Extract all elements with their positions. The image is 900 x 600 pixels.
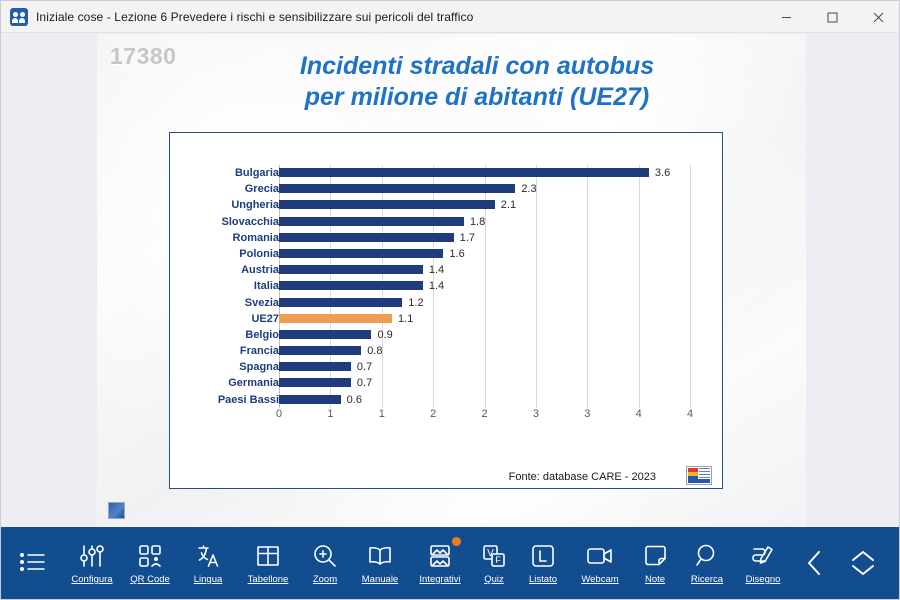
chart-bar-value: 3.6 [649,165,670,181]
toolbar-item-configura[interactable]: Configura [63,527,121,599]
toolbar-item-tabellone[interactable]: Tabellone [237,527,299,599]
chart-x-tick-label: 0 [276,408,282,420]
chart-x-tick-label: 2 [481,408,487,420]
chart-category-label: Francia [176,343,279,359]
chart-bar-value: 0.7 [351,359,372,375]
chart-category-label: Ungheria [176,197,279,213]
toolbar-item-label: Ricerca [691,574,723,585]
chart-bar-value: 2.1 [495,197,516,213]
toolbar-item-note[interactable]: Note [631,527,679,599]
chart-x-tick-label: 3 [533,408,539,420]
chart-bar-row: 2.3 [279,181,690,197]
chart-x-tick-label: 3 [584,408,590,420]
images-icon [427,541,453,571]
chart-bar-row: 1.4 [279,262,690,278]
close-icon[interactable] [855,1,900,33]
chart-bar [279,330,371,339]
chart-gridline [690,165,691,408]
chart-bar [279,395,341,404]
toolbar-nav-next[interactable] [887,527,900,599]
pen-draw-icon [749,541,777,571]
chart-bar-row: 1.7 [279,230,690,246]
chart-category-label: Spagna [176,359,279,375]
chart-category-label: Polonia [176,246,279,262]
notification-badge [452,537,461,546]
toolbar-item-listato[interactable]: Listato [517,527,569,599]
toolbar-nav-prev[interactable] [791,527,839,599]
table-icon [255,541,281,571]
chart-bar-row: 0.9 [279,327,690,343]
chart-bar-value: 0.7 [351,375,372,391]
toolbar-item-manuale[interactable]: Manuale [351,527,409,599]
chart-bar-value: 1.1 [392,311,413,327]
chart-category-label: Italia [176,278,279,294]
menu-list-icon [18,547,46,577]
chart-bar-row: 0.6 [279,392,690,408]
chart-bar-value: 0.6 [341,392,362,408]
chart-bar-row: 3.6 [279,165,690,181]
chart-category-label: Belgio [176,327,279,343]
chart-category-label: Svezia [176,295,279,311]
toolbar-item-label: Disegno [746,574,781,585]
chart-bar-value: 2.3 [515,181,536,197]
chart-bar [279,217,464,226]
window-title: Iniziale cose - Lezione 6 Prevedere i ri… [36,10,473,24]
slide-code: 17380 [110,43,176,70]
chart-bar-value: 0.8 [361,343,382,359]
toolbar-item-qr-code[interactable]: QR Code [121,527,179,599]
chart-x-axis: 011223344 [279,408,690,426]
slide-title-line2: per milione di abitanti (UE27) [187,82,767,113]
zoom-in-icon [312,541,338,571]
sliders-icon [79,541,105,571]
page-title: Incidenti stradali con autobus per milio… [187,51,767,113]
chart-bar [279,168,649,177]
people-icon [10,8,28,26]
chart-category-label: Romania [176,230,279,246]
chart-category-label: Slovacchia [176,214,279,230]
chart-category-label: Austria [176,262,279,278]
chart-bar-row: 1.2 [279,295,690,311]
toolbar-item-zoom[interactable]: Zoom [299,527,351,599]
chart-x-tick-label: 4 [636,408,642,420]
workspace: 17380 Incidenti stradali con autobus per… [1,33,900,529]
toolbar-item-integrativi[interactable]: Integrativi [409,527,471,599]
chart-bar [279,346,361,355]
bottom-toolbar: ConfiguraQR CodeLinguaTabelloneZoomManua… [1,527,900,599]
book-icon [367,541,393,571]
chart-bar-row: 1.4 [279,278,690,294]
toolbar-item-label: Quiz [484,574,504,585]
toolbar-item-lingua[interactable]: Lingua [179,527,237,599]
chart-category-label: UE27 [176,311,279,327]
toolbar-item-label: Lingua [194,574,223,585]
chart-category-label: Grecia [176,181,279,197]
chart-x-tick-label: 2 [430,408,436,420]
chart-inner: BulgariaGreciaUngheriaSlovacchiaRomaniaP… [170,133,722,488]
toolbar-item-menu[interactable] [1,527,63,599]
slide-canvas[interactable]: 17380 Incidenti stradali con autobus per… [97,34,806,529]
chart-bar-value: 1.4 [423,278,444,294]
toolbar-item-label: Tabellone [248,574,289,585]
etsc-logo-icon [686,466,712,485]
chart-bar-value: 1.7 [454,230,475,246]
toolbar-item-label: Listato [529,574,557,585]
chart-bar-row: 0.7 [279,359,690,375]
toolbar-item-label: Configura [71,574,112,585]
note-icon [642,541,668,571]
quiz-cards-icon: VF [481,541,507,571]
chart-bar [279,184,515,193]
chart-bar-value: 1.2 [402,295,423,311]
toolbar-item-label: Note [645,574,665,585]
window-controls [763,1,900,33]
chart-bar [279,233,454,242]
chart-bar-row: 2.1 [279,197,690,213]
toolbar-item-label: Webcam [581,574,618,585]
slide-title-line1: Incidenti stradali con autobus [187,51,767,82]
chart-bar [279,362,351,371]
chart-bar-value: 1.6 [443,246,464,262]
chart-bar-row: 1.8 [279,214,690,230]
minimize-icon[interactable] [763,1,809,33]
chart-container: BulgariaGreciaUngheriaSlovacchiaRomaniaP… [169,132,723,489]
chart-category-label: Germania [176,375,279,391]
chart-bar [279,281,423,290]
toolbar-item-webcam[interactable]: Webcam [569,527,631,599]
application-window: Iniziale cose - Lezione 6 Prevedere i ri… [0,0,900,600]
maximize-icon[interactable] [809,1,855,33]
chart-bar [279,298,402,307]
toolbar-item-label: QR Code [130,574,170,585]
chart-bar-row: 1.6 [279,246,690,262]
svg-text:F: F [495,555,501,565]
chart-bar-row: 0.8 [279,343,690,359]
chart-source-note: Fonte: database CARE - 2023 [509,471,656,483]
qrcode-icon [137,541,163,571]
chart-bar [279,265,423,274]
title-bar: Iniziale cose - Lezione 6 Prevedere i ri… [1,1,900,33]
chart-bar [279,249,443,258]
listato-box-icon [530,541,556,571]
slide-logo-icon [108,502,125,519]
chart-x-tick-label: 1 [379,408,385,420]
video-camera-icon [586,541,614,571]
chart-bar [279,314,392,323]
toolbar-item-ricerca[interactable]: Ricerca [679,527,735,599]
toolbar-nav-updown[interactable] [839,527,887,599]
chart-bar-value: 1.8 [464,214,485,230]
chart-x-tick-label: 4 [687,408,693,420]
chart-bar-row: 1.1 [279,311,690,327]
chart-bar-row: 0.7 [279,375,690,391]
chart-category-axis: BulgariaGreciaUngheriaSlovacchiaRomaniaP… [176,165,279,408]
toolbar-item-label: Manuale [362,574,398,585]
toolbar-item-label: Zoom [313,574,337,585]
chart-x-tick-label: 1 [327,408,333,420]
chart-bar-value: 0.9 [371,327,392,343]
chart-category-label: Paesi Bassi [176,392,279,408]
toolbar-item-label: Integrativi [419,574,460,585]
toolbar-item-quiz[interactable]: VFQuiz [471,527,517,599]
chart-plot-area: 3.62.32.11.81.71.61.41.41.21.10.90.80.70… [279,165,690,408]
toolbar-item-disegno[interactable]: Disegno [735,527,791,599]
translate-icon [195,541,221,571]
chart-bar [279,378,351,387]
chart-bar-value: 1.4 [423,262,444,278]
chart-bar [279,200,495,209]
search-icon [694,541,720,571]
chart-category-label: Bulgaria [176,165,279,181]
